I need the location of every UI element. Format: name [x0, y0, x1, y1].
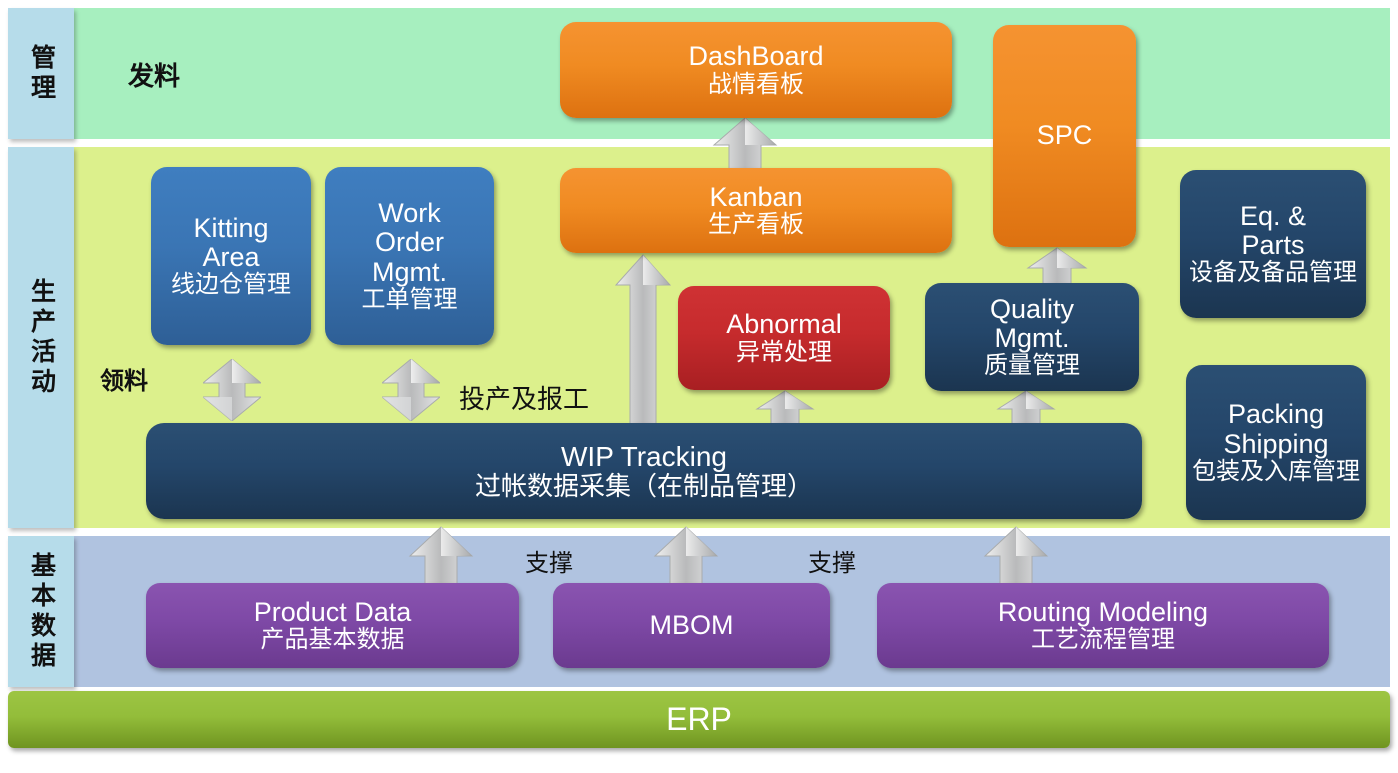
sidebar-basic-data-text: 基本数据 — [29, 552, 54, 672]
node-routing-modeling[interactable]: Routing Modeling 工艺流程管理 — [877, 583, 1329, 668]
arrow-work-order-to-wip-bidirectional — [382, 359, 440, 421]
node-work-order-en-1: Work — [378, 199, 441, 228]
node-quality-cn: 质量管理 — [984, 353, 1080, 379]
node-work-order-en-3: Mgmt. — [372, 258, 447, 287]
node-dashboard[interactable]: DashBoard 战情看板 — [560, 22, 952, 118]
node-eq-parts-en-2: Parts — [1241, 231, 1304, 260]
node-kitting-en-2: Area — [202, 243, 259, 272]
node-wip-en: WIP Tracking — [561, 442, 727, 472]
node-erp-en: ERP — [666, 702, 732, 737]
node-routing-en: Routing Modeling — [998, 598, 1208, 627]
node-product-data-en: Product Data — [254, 598, 412, 627]
sidebar-label-basic-data: 基本数据 — [8, 536, 74, 687]
node-quality-en-1: Quality — [990, 295, 1074, 324]
sidebar-label-production: 生产活动 — [8, 147, 74, 528]
node-product-data-cn: 产品基本数据 — [261, 627, 405, 653]
diagram-canvas: 管理 生产活动 基本数据 发料 领料 投产及报工 支撑 支撑 — [0, 0, 1398, 773]
sidebar-management-text: 管理 — [29, 44, 54, 104]
sidebar-production-text: 生产活动 — [29, 278, 54, 398]
arrow-quality-to-spc — [1028, 248, 1086, 286]
sidebar-label-management: 管理 — [8, 8, 74, 139]
node-wip-cn: 过帐数据采集（在制品管理） — [475, 472, 813, 500]
arrow-wip-to-kanban — [616, 255, 670, 425]
node-mbom-en: MBOM — [650, 611, 734, 640]
label-picking: 领料 — [100, 361, 148, 396]
node-packing-en-2: Shipping — [1223, 430, 1328, 459]
label-support-right: 支撑 — [808, 543, 856, 578]
arrow-kanban-to-dashboard — [714, 118, 776, 172]
node-dashboard-cn: 战情看板 — [708, 72, 804, 98]
arrow-routing-to-wip — [985, 527, 1047, 585]
node-erp[interactable]: ERP — [8, 691, 1390, 748]
arrow-kitting-to-wip-bidirectional — [203, 359, 261, 421]
node-abnormal-cn: 异常处理 — [736, 340, 832, 366]
node-work-order-en-2: Order — [375, 228, 444, 257]
node-eq-parts-cn: 设备及备品管理 — [1189, 260, 1357, 286]
node-kitting-en-1: Kitting — [193, 214, 268, 243]
arrow-wip-to-quality — [998, 391, 1054, 426]
label-support-left: 支撑 — [525, 543, 573, 578]
node-product-data[interactable]: Product Data 产品基本数据 — [146, 583, 519, 668]
node-abnormal-en: Abnormal — [726, 310, 842, 339]
node-spc[interactable]: SPC — [993, 25, 1136, 247]
node-kitting-cn: 线边仓管理 — [171, 272, 291, 298]
node-quality-en-2: Mgmt. — [994, 324, 1069, 353]
node-routing-cn: 工艺流程管理 — [1031, 627, 1175, 653]
node-packing-cn: 包装及入库管理 — [1192, 459, 1360, 485]
node-packing-en-1: Packing — [1228, 400, 1324, 429]
node-kanban-en: Kanban — [709, 183, 802, 212]
arrow-mbom-to-wip — [655, 527, 717, 585]
node-mbom[interactable]: MBOM — [553, 583, 830, 668]
node-dashboard-en: DashBoard — [688, 42, 823, 71]
node-spc-en: SPC — [1037, 121, 1093, 150]
node-quality-mgmt[interactable]: Quality Mgmt. 质量管理 — [925, 283, 1139, 391]
arrow-product-data-to-wip — [410, 527, 472, 585]
node-kitting-area[interactable]: Kitting Area 线边仓管理 — [151, 167, 311, 345]
node-equipment-parts[interactable]: Eq. & Parts 设备及备品管理 — [1180, 170, 1366, 318]
label-production-report: 投产及报工 — [459, 379, 589, 416]
node-work-order-mgmt[interactable]: Work Order Mgmt. 工单管理 — [325, 167, 494, 345]
node-packing-shipping[interactable]: Packing Shipping 包装及入库管理 — [1186, 365, 1366, 520]
label-issue-material: 发料 — [128, 56, 180, 93]
node-kanban[interactable]: Kanban 生产看板 — [560, 168, 952, 253]
node-work-order-cn: 工单管理 — [362, 287, 458, 313]
node-wip-tracking[interactable]: WIP Tracking 过帐数据采集（在制品管理） — [146, 423, 1142, 519]
node-abnormal[interactable]: Abnormal 异常处理 — [678, 286, 890, 390]
arrow-wip-to-abnormal — [757, 391, 813, 426]
node-eq-parts-en-1: Eq. & — [1240, 202, 1306, 231]
node-kanban-cn: 生产看板 — [708, 212, 804, 238]
